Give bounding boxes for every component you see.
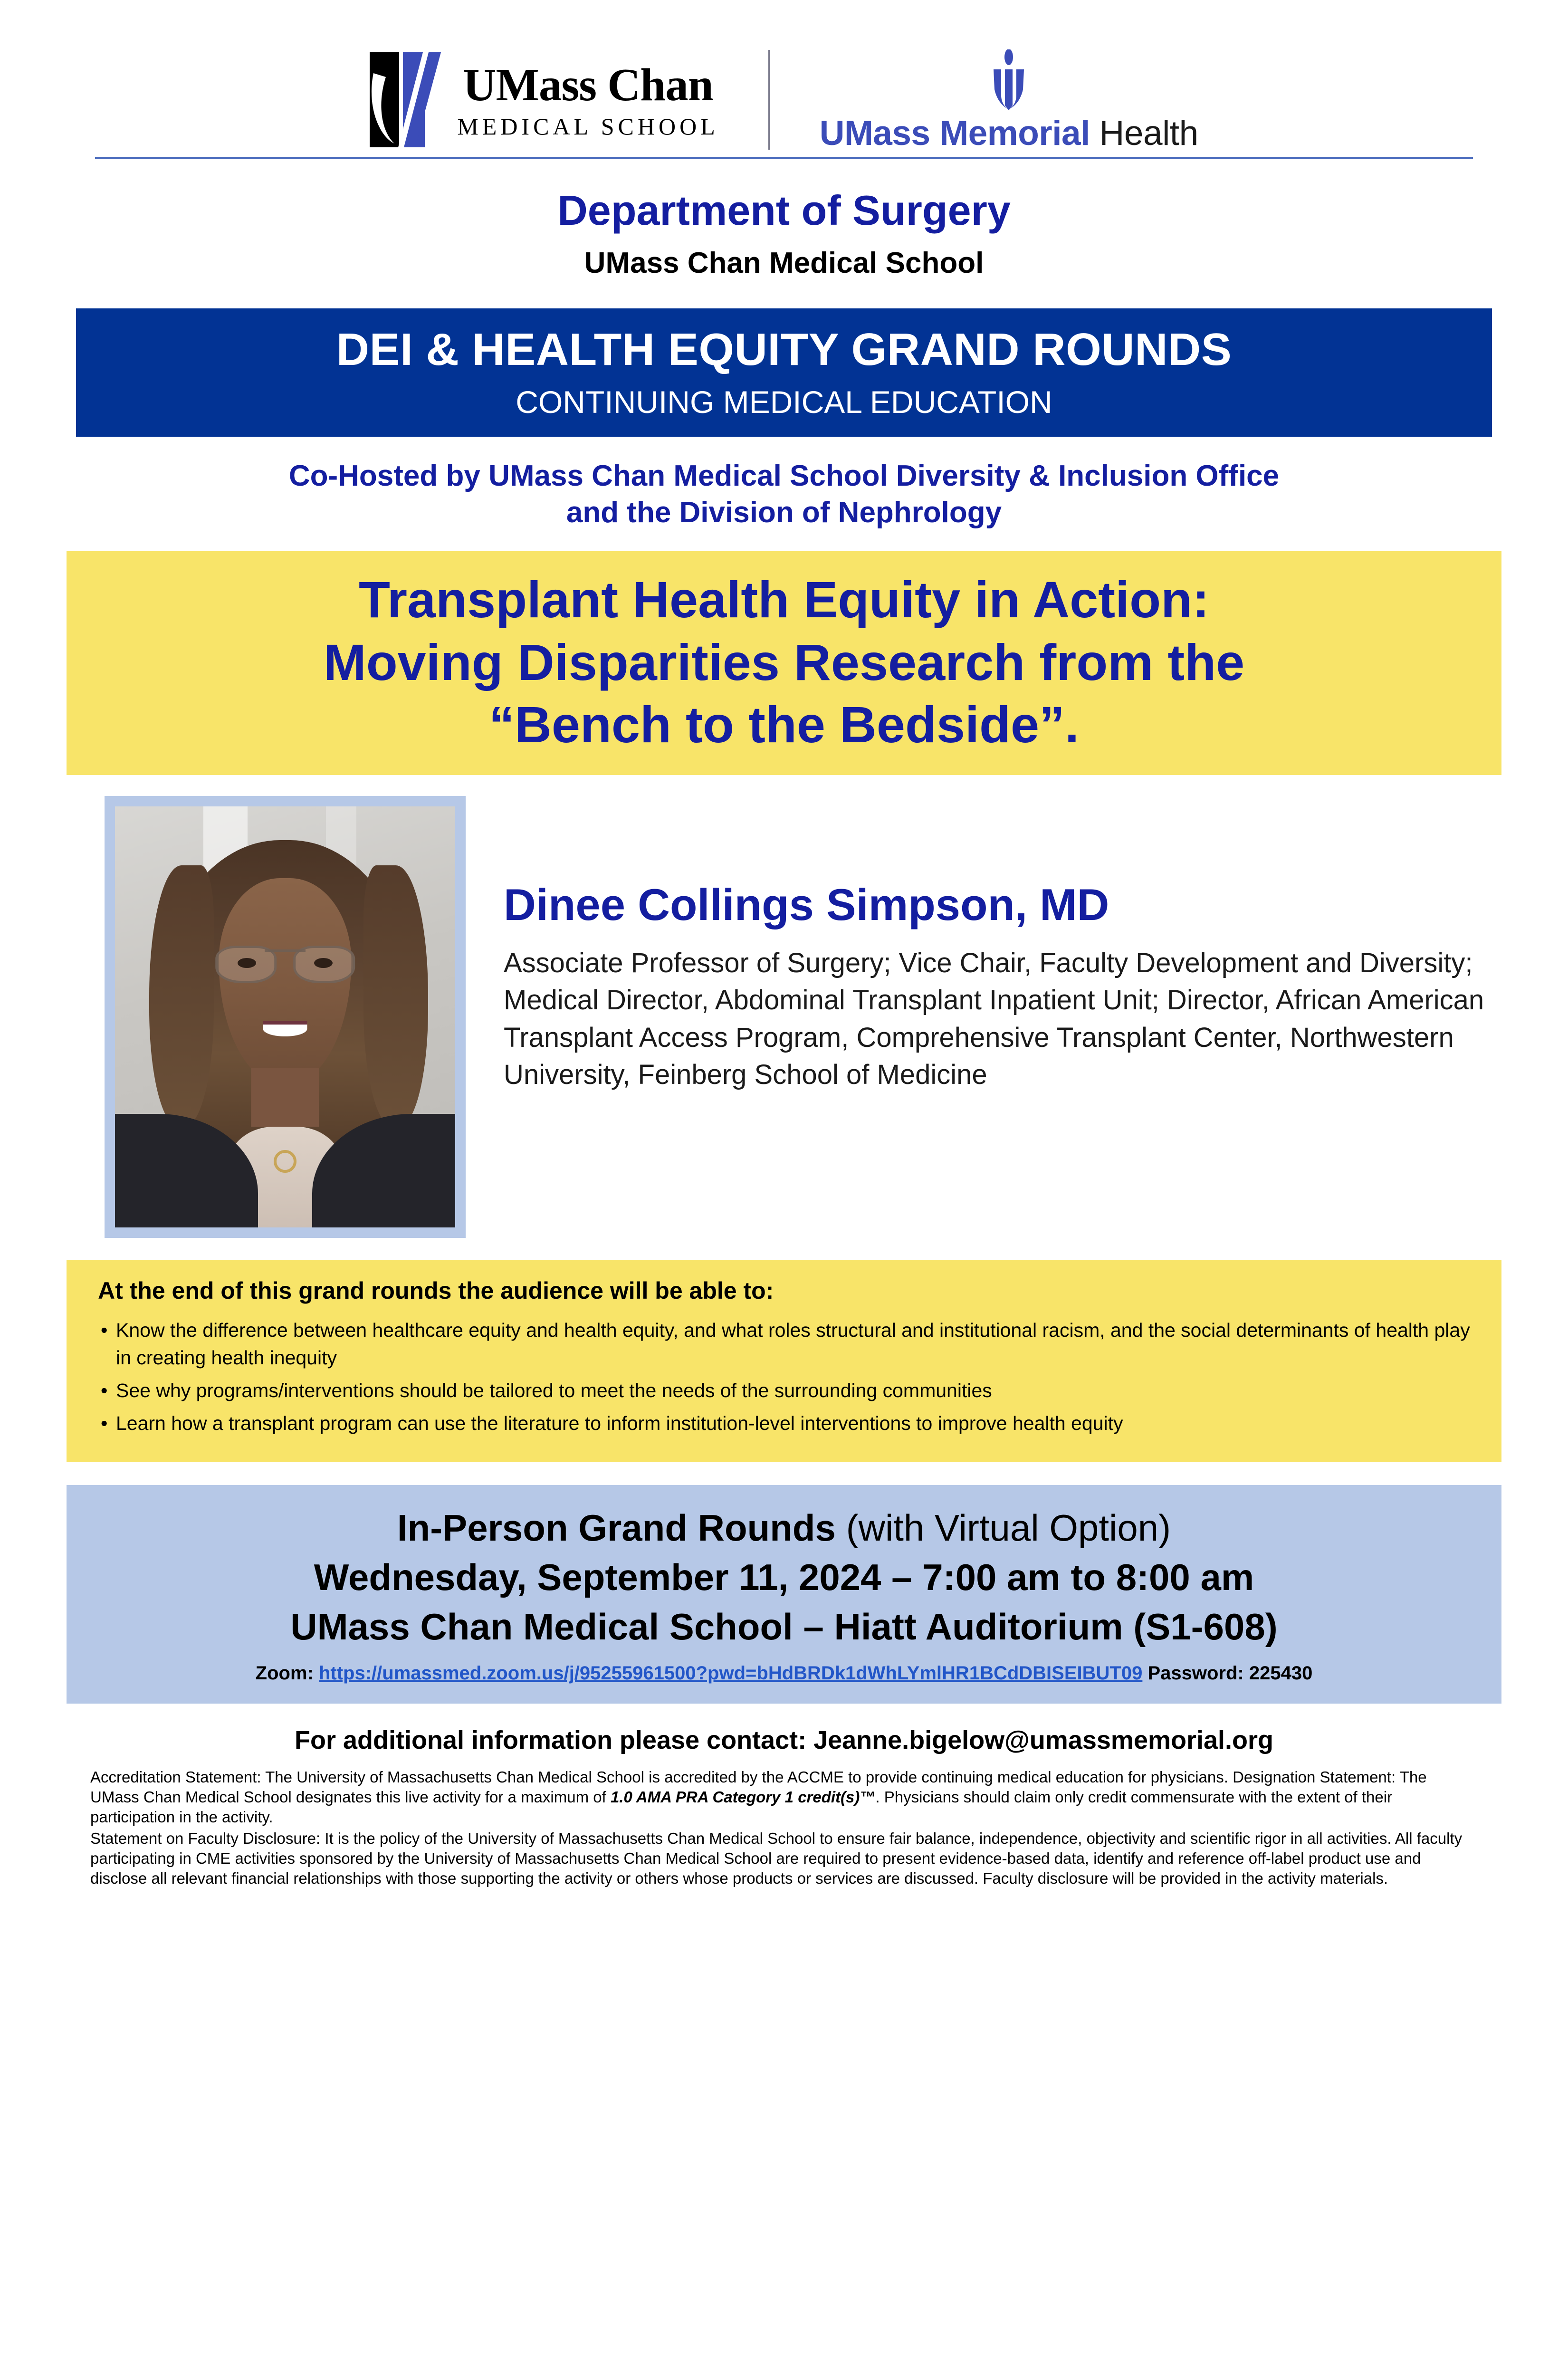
banner-subtitle: CONTINUING MEDICAL EDUCATION [86,385,1482,420]
cohost-line-2: and the Division of Nephrology [86,494,1482,531]
accreditation-credit-italic: 1.0 AMA PRA Category 1 credit(s)™ [611,1788,875,1806]
zoom-meeting-link[interactable]: https://umassmed.zoom.us/j/95255961500?p… [319,1663,1142,1684]
talk-title-line-1: Transplant Health Equity in Action: [100,568,1468,631]
header-divider-rule [95,157,1473,159]
talk-title-line-2: Moving Disparities Research from the [100,631,1468,694]
accreditation-paragraph-1: Accreditation Statement: The University … [90,1767,1478,1828]
umass-chan-name: UMass Chan [463,62,713,108]
list-item: Know the difference between healthcare e… [98,1317,1470,1371]
list-item: Learn how a transplant program can use t… [98,1410,1470,1437]
zoom-access-line: Zoom: https://umassmed.zoom.us/j/9525596… [86,1662,1482,1685]
cohost-text: Co-Hosted by UMass Chan Medical School D… [86,458,1482,531]
banner-main-title: DEI & HEALTH EQUITY GRAND ROUNDS [86,325,1482,375]
department-title: Department of Surgery [0,188,1568,234]
objectives-heading: At the end of this grand rounds the audi… [98,1277,1470,1304]
umass-chan-subtitle: MEDICAL SCHOOL [457,115,718,138]
umass-memorial-flame-icon [980,49,1037,111]
speaker-section: Dinee Collings Simpson, MD Associate Pro… [105,796,1492,1238]
event-format-line: In-Person Grand Rounds (with Virtual Opt… [86,1506,1482,1550]
cohost-line-1: Co-Hosted by UMass Chan Medical School D… [86,458,1482,495]
event-format-normal: (with Virtual Option) [836,1507,1171,1549]
zoom-password: Password: 225430 [1147,1663,1312,1684]
accreditation-paragraph-2: Statement on Faculty Disclosure: It is t… [90,1829,1478,1889]
event-details-block: In-Person Grand Rounds (with Virtual Opt… [67,1485,1501,1704]
speaker-name: Dinee Collings Simpson, MD [504,881,1492,929]
speaker-bio: Associate Professor of Surgery; Vice Cha… [504,945,1492,1093]
grand-rounds-banner: DEI & HEALTH EQUITY GRAND ROUNDS CONTINU… [76,308,1492,437]
logo-header: UMass Chan MEDICAL SCHOOL UMass Memorial… [0,0,1568,143]
speaker-photo-frame [105,796,466,1238]
logo-divider [768,50,770,150]
speaker-portrait-photo [115,806,455,1227]
event-datetime: Wednesday, September 11, 2024 – 7:00 am … [86,1555,1482,1599]
umass-memorial-dark-text: Health [1100,114,1198,153]
institution-name: UMass Chan Medical School [0,246,1568,280]
talk-title-block: Transplant Health Equity in Action: Movi… [67,551,1501,775]
speaker-info: Dinee Collings Simpson, MD Associate Pro… [504,796,1492,1093]
accreditation-statements: Accreditation Statement: The University … [90,1767,1478,1888]
objectives-list: Know the difference between healthcare e… [98,1317,1470,1437]
umass-chan-mark-icon [370,52,441,147]
umass-chan-logo: UMass Chan MEDICAL SCHOOL [370,52,718,147]
event-venue: UMass Chan Medical School – Hiatt Audito… [86,1605,1482,1648]
learning-objectives-block: At the end of this grand rounds the audi… [67,1260,1501,1462]
umass-memorial-wordmark: UMass Memorial Health [820,116,1198,151]
umass-chan-wordmark: UMass Chan MEDICAL SCHOOL [457,62,718,138]
event-format-bold: In-Person Grand Rounds [397,1507,836,1549]
list-item: See why programs/interventions should be… [98,1377,1470,1404]
contact-line: For additional information please contac… [0,1725,1568,1755]
umass-memorial-blue-text: UMass Memorial [820,114,1090,153]
zoom-label: Zoom: [256,1663,314,1684]
poster-page: UMass Chan MEDICAL SCHOOL UMass Memorial… [0,0,1568,2376]
umass-memorial-logo: UMass Memorial Health [820,49,1198,151]
talk-title-line-3: “Bench to the Bedside”. [100,693,1468,756]
